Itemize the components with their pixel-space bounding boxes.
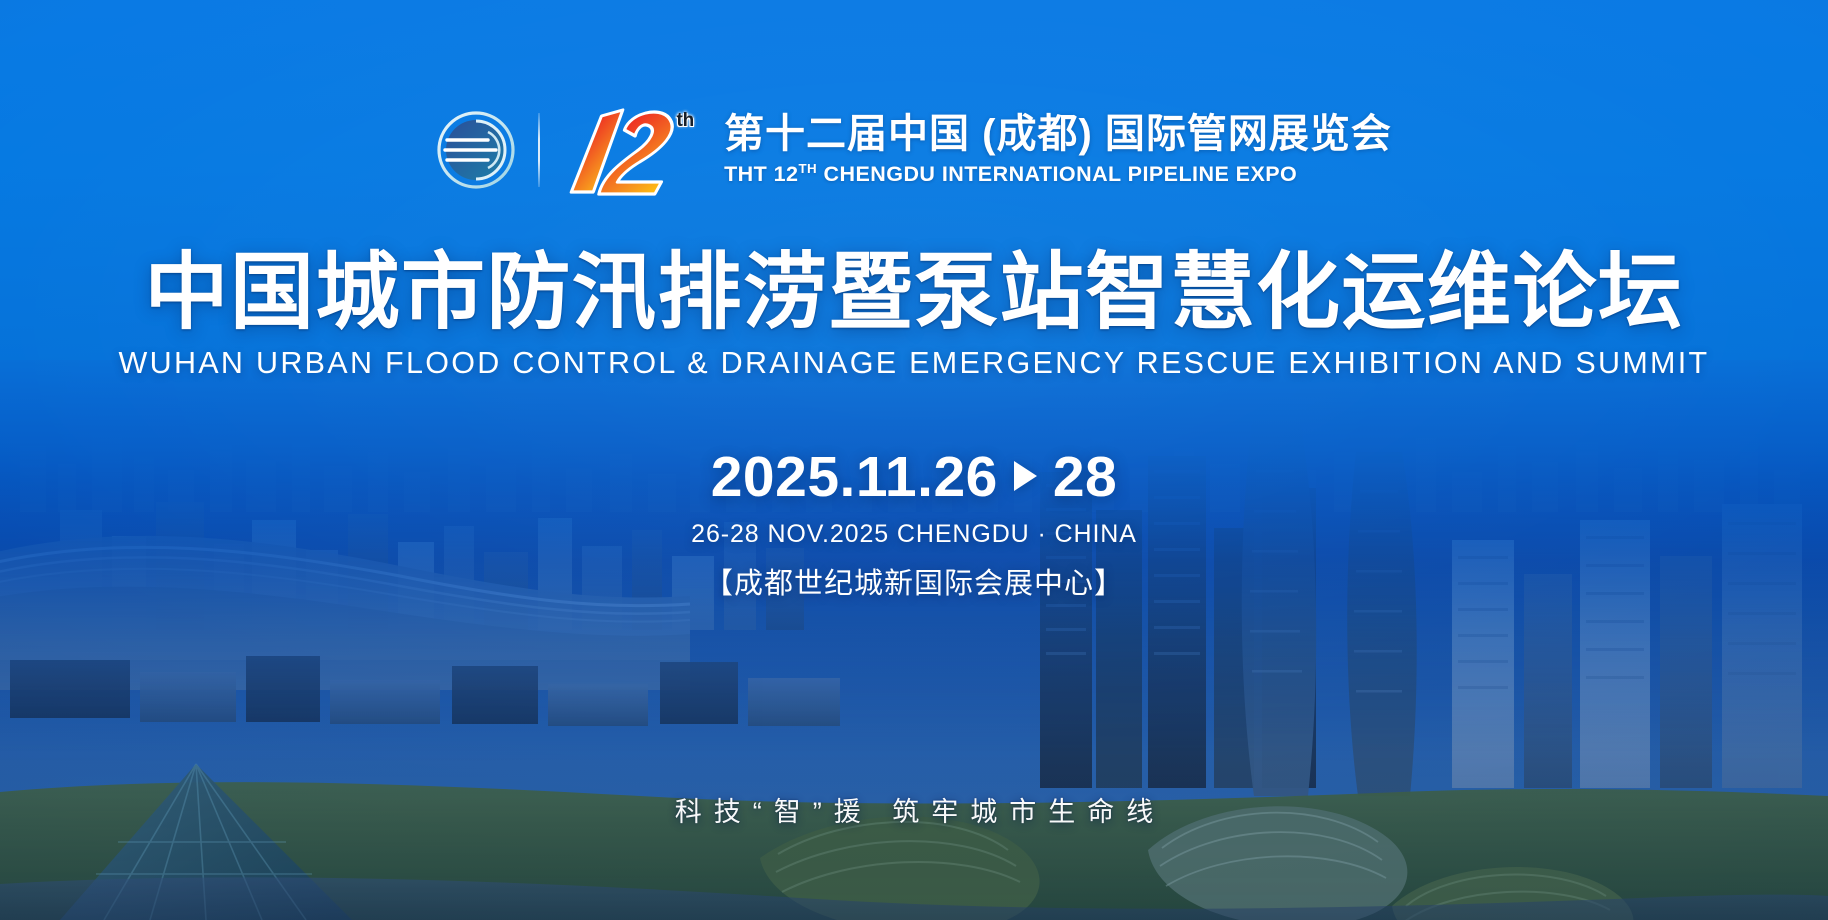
- header-titles: 第十二届中国 (成都) 国际管网展览会 THT 12TH CHENGDU INT…: [724, 113, 1392, 187]
- header-title-en: THT 12TH CHENGDU INTERNATIONAL PIPELINE …: [724, 161, 1392, 187]
- date-range-primary: 2025.11.26 28: [711, 444, 1118, 510]
- play-triangle-icon: [1014, 461, 1037, 491]
- event-header-lockup: th 第十二届中国 (成都) 国际管网展览会 THT 12TH CHENGDU …: [0, 104, 1828, 196]
- venue-name: 【成都世纪城新国际会展中心】: [0, 560, 1828, 602]
- event-tagline: 科技“智”援 筑牢城市生命线: [0, 790, 1828, 829]
- date-start: 2025.11.26: [711, 444, 998, 510]
- edition-ordinal-suffix: th: [677, 110, 695, 132]
- date-block: 2025.11.26 28 26-28 NOV.2025 CHENGDU · C…: [0, 444, 1828, 602]
- date-range-english: 26-28 NOV.2025 CHENGDU · CHINA: [0, 520, 1828, 549]
- header-divider: [538, 113, 540, 187]
- header-title-en-post: CHENGDU INTERNATIONAL PIPELINE EXPO: [817, 162, 1297, 186]
- hero-title-en: WUHAN URBAN FLOOD CONTROL & DRAINAGE EME…: [0, 346, 1828, 381]
- edition-number-badge: th: [568, 104, 696, 196]
- hero-block: 中国城市防汛排涝暨泵站智慧化运维论坛 WUHAN URBAN FLOOD CON…: [0, 248, 1828, 381]
- hero-title-cn: 中国城市防汛排涝暨泵站智慧化运维论坛: [0, 248, 1828, 336]
- header-title-en-pre: THT 12: [724, 162, 798, 186]
- date-end: 28: [1053, 444, 1117, 510]
- expo-banner: th 第十二届中国 (成都) 国际管网展览会 THT 12TH CHENGDU …: [0, 0, 1828, 920]
- pipeline-network-emblem-icon: [436, 110, 516, 190]
- header-title-cn: 第十二届中国 (成都) 国际管网展览会: [724, 113, 1392, 156]
- header-title-en-ordinal: TH: [798, 161, 817, 176]
